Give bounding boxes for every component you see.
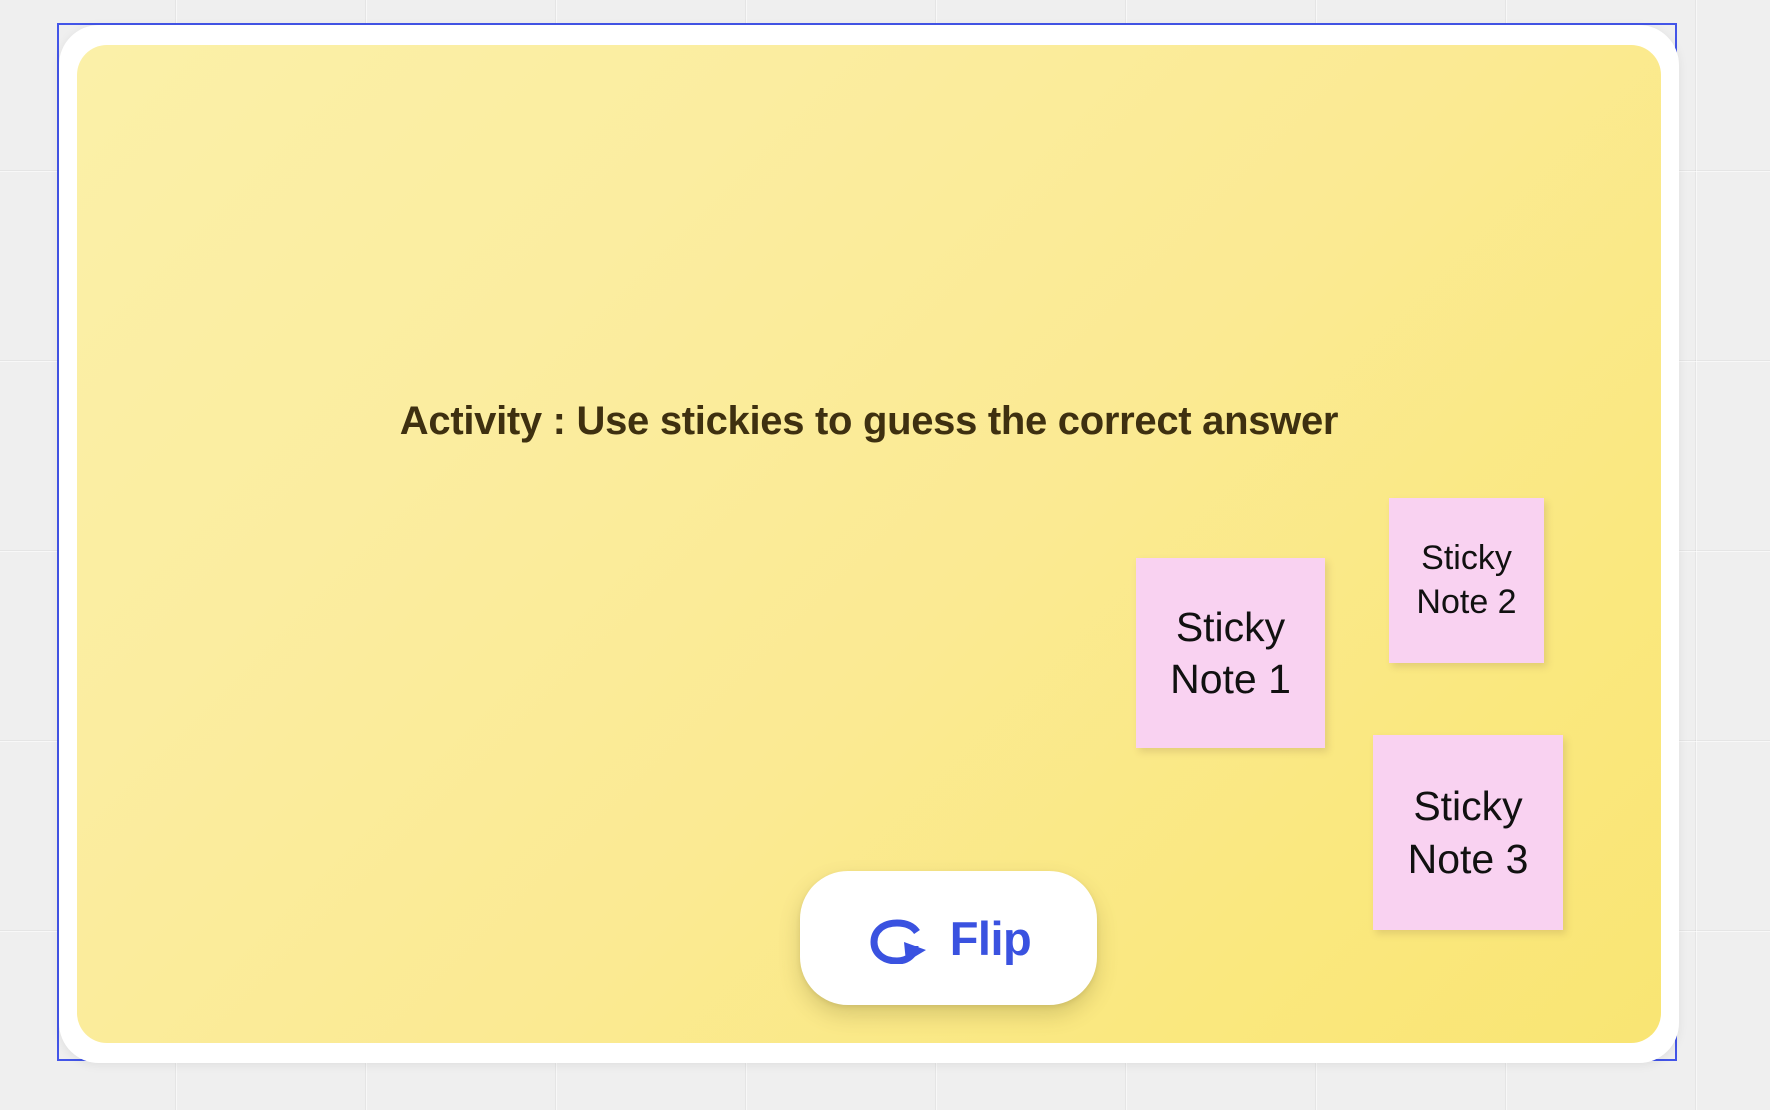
flip-button[interactable]: Flip — [800, 871, 1097, 1005]
slide-surface[interactable]: Activity : Use stickies to guess the cor… — [77, 45, 1661, 1043]
rotate-arrow-icon — [866, 912, 932, 964]
whiteboard-canvas[interactable]: Activity : Use stickies to guess the cor… — [0, 0, 1770, 1110]
sticky-note-3[interactable]: Sticky Note 3 — [1373, 735, 1563, 930]
page-title: Activity : Use stickies to guess the cor… — [77, 399, 1661, 444]
sticky-note-1[interactable]: Sticky Note 1 — [1136, 558, 1325, 748]
slide-selection-frame[interactable]: Activity : Use stickies to guess the cor… — [57, 23, 1677, 1061]
flip-button-label: Flip — [950, 911, 1032, 966]
slide-card[interactable]: Activity : Use stickies to guess the cor… — [59, 25, 1679, 1063]
sticky-note-2[interactable]: Sticky Note 2 — [1389, 498, 1544, 663]
